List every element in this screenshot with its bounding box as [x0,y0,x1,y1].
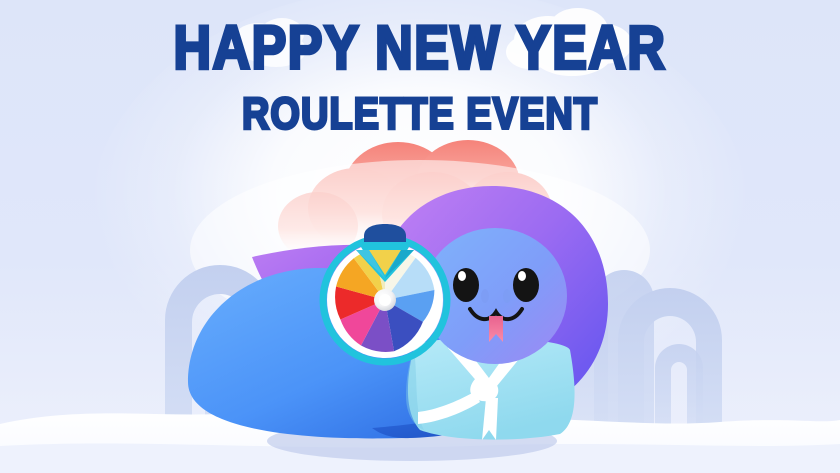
eye-highlight-left [458,271,466,281]
bottom-fade [0,462,840,473]
gem-crown [364,224,406,244]
cheek-left [481,289,489,303]
eye-left [453,268,479,302]
banner-artwork [0,0,840,473]
new-year-roulette-banner: HAPPY NEW YEAR ROULETTE EVENT [0,0,840,473]
cheek-right [503,289,511,303]
eye-highlight-right [518,271,526,281]
wheel-hub-center [379,294,391,306]
eye-right [513,268,539,302]
